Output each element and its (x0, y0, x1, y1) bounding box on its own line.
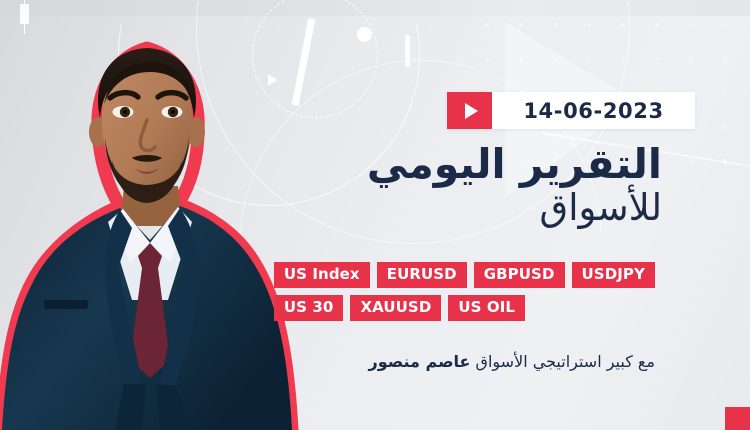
market-report-banner: 14-06-2023 التقرير اليومي للأسواق US Ind… (0, 0, 750, 430)
ticker-row-2: US 30 XAUUSD US OIL (274, 295, 655, 321)
presenter-photo (0, 0, 322, 430)
date-text: 14-06-2023 (523, 99, 663, 123)
corner-accent-block (725, 407, 750, 430)
ticker-badge[interactable]: USDJPY (572, 262, 655, 288)
page-title: التقرير اليومي للأسواق (367, 143, 662, 229)
title-line-1: التقرير اليومي (367, 143, 662, 186)
ticker-badge[interactable]: US Index (274, 262, 370, 288)
play-icon (465, 103, 478, 119)
ticker-row-1: US Index EURUSD GBPUSD USDJPY (274, 262, 655, 288)
ticker-list: US Index EURUSD GBPUSD USDJPY US 30 XAUU… (274, 262, 655, 328)
play-button[interactable] (447, 92, 492, 129)
date-badge[interactable]: 14-06-2023 (447, 92, 695, 129)
byline: مع كبير استراتيجي الأسواق عاصم منصور (369, 352, 656, 371)
title-line-2: للأسواق (367, 188, 662, 229)
white-dot-decoration (357, 27, 372, 42)
ticker-badge[interactable]: US OIL (448, 295, 525, 321)
ticker-badge[interactable]: GBPUSD (474, 262, 565, 288)
white-bar-decoration-small (405, 35, 410, 67)
presenter-name: عاصم منصور (369, 352, 471, 371)
ticker-badge[interactable]: EURUSD (377, 262, 467, 288)
ticker-badge[interactable]: US 30 (274, 295, 344, 321)
ticker-badge[interactable]: XAUUSD (350, 295, 441, 321)
date-box: 14-06-2023 (492, 92, 695, 129)
byline-prefix: مع كبير استراتيجي الأسواق (470, 352, 655, 371)
